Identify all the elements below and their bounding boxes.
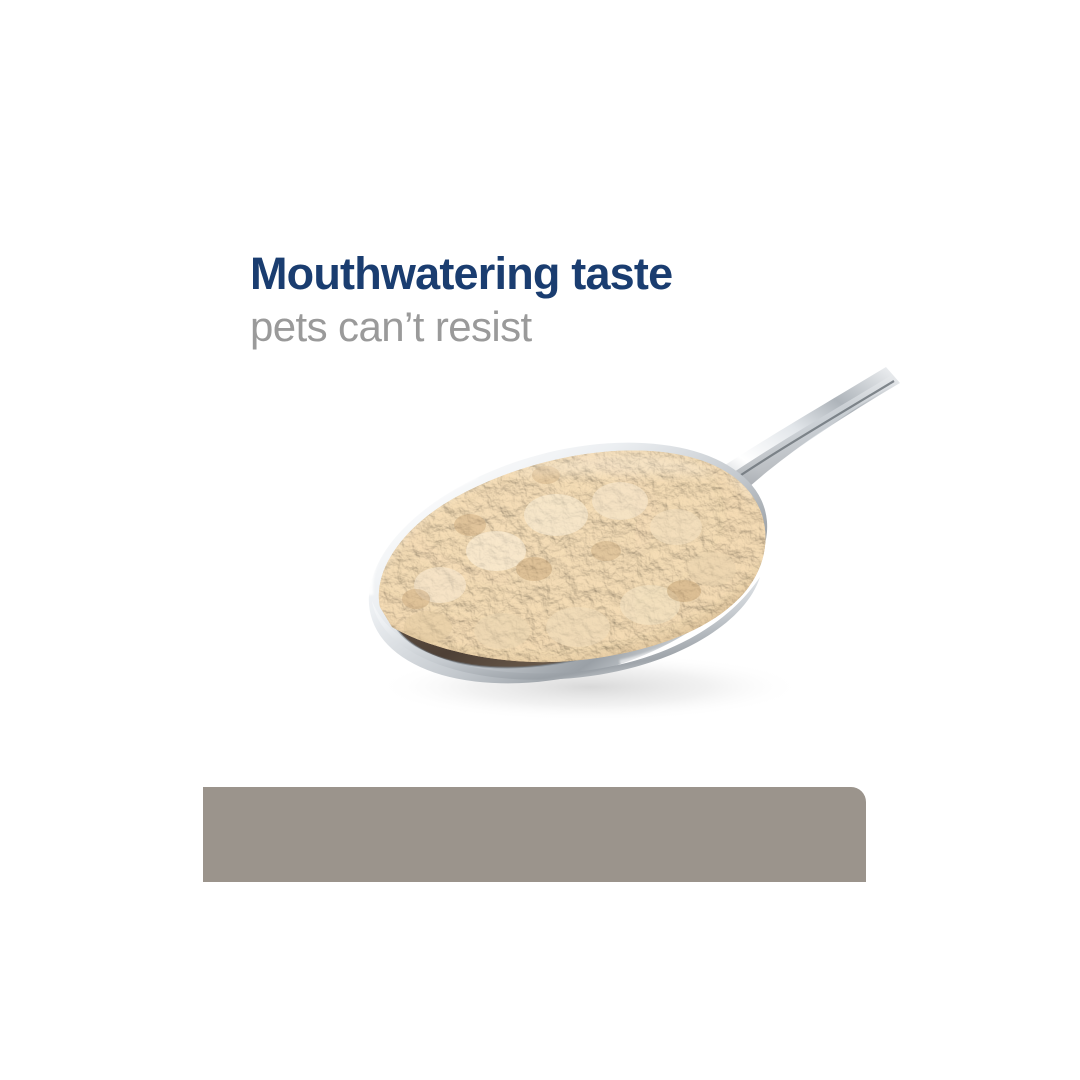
page-title: Mouthwatering taste bbox=[250, 248, 950, 300]
poster-canvas: Mouthwatering taste pets can’t resist bbox=[0, 0, 1080, 1080]
page-subtitle: pets can’t resist bbox=[250, 300, 950, 352]
product-photo bbox=[320, 355, 920, 755]
headline-block: Mouthwatering taste pets can’t resist bbox=[250, 248, 950, 352]
spoon-with-food-illustration bbox=[320, 355, 920, 755]
footer-bar bbox=[203, 787, 866, 882]
